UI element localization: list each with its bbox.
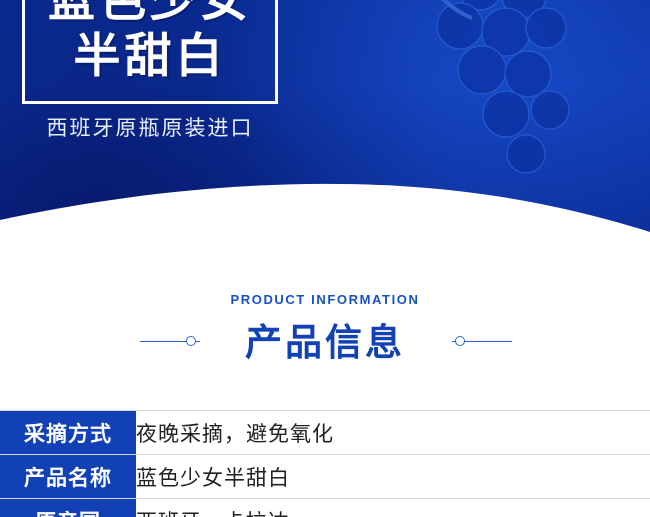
- wave-divider: [0, 176, 650, 244]
- hero-title-line1: 蓝色少女: [48, 0, 252, 26]
- decor-dot-right: [455, 336, 465, 346]
- hero-banner: 蓝色少女 半甜白 西班牙原瓶原装进口: [0, 0, 650, 244]
- table-row: 原产国 西班牙 · 卡拉达: [0, 499, 650, 517]
- section-heading-cn: 产品信息: [0, 312, 650, 366]
- hero-title-line2: 半甜白: [22, 28, 278, 84]
- table-row-value: 蓝色少女半甜白: [136, 455, 650, 499]
- table-row-label: 产品名称: [0, 455, 136, 499]
- hero-subtitle: 西班牙原瓶原装进口: [22, 112, 278, 142]
- table-row-label: 采摘方式: [0, 411, 136, 455]
- decor-dot-left: [186, 336, 196, 346]
- table-row-label: 原产国: [0, 499, 136, 517]
- product-detail-page: 蓝色少女 半甜白 西班牙原瓶原装进口 PRODUCT INFORMATION 产…: [0, 0, 650, 517]
- table-row: 产品名称 蓝色少女半甜白: [0, 455, 650, 499]
- table-row: 采摘方式 夜晚采摘，避免氧化: [0, 411, 650, 455]
- product-info-table: 采摘方式 夜晚采摘，避免氧化 产品名称 蓝色少女半甜白 原产国 西班牙 · 卡拉…: [0, 410, 650, 517]
- hero-title: 蓝色少女 半甜白: [22, 0, 278, 84]
- section-heading-en: PRODUCT INFORMATION: [0, 292, 650, 307]
- table-row-value: 西班牙 · 卡拉达: [136, 499, 650, 517]
- section-heading: PRODUCT INFORMATION 产品信息: [0, 244, 650, 404]
- table-row-value: 夜晚采摘，避免氧化: [136, 411, 650, 455]
